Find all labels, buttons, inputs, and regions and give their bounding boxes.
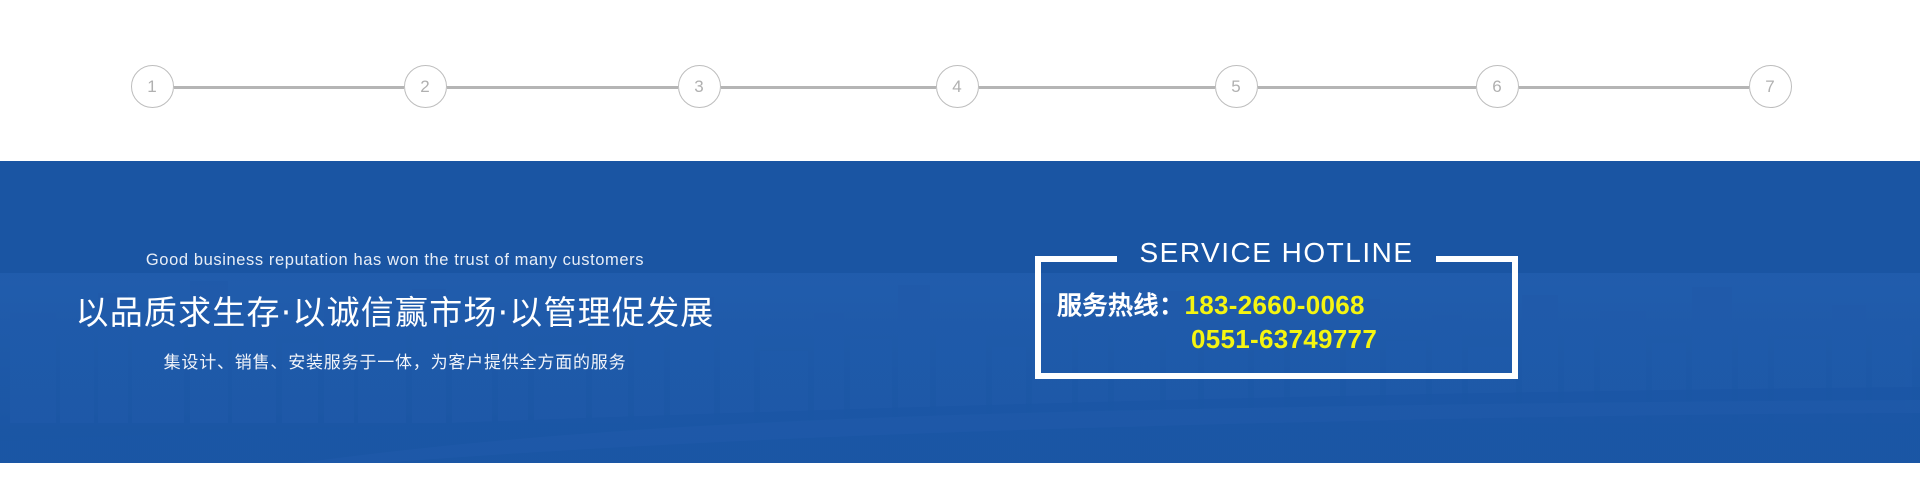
step-circle-6[interactable]: 6 — [1476, 65, 1519, 108]
slogan-block: Good business reputation has won the tru… — [0, 161, 1000, 463]
footer-white-strip — [0, 463, 1920, 500]
step-progress-bar: 1234567 — [0, 65, 1920, 109]
hotline-number-mobile[interactable]: 183-2660-0068 — [1185, 290, 1365, 321]
slogan-chinese-main: 以品质求生存·以诚信赢市场·以管理促发展 — [76, 286, 715, 334]
step-circle-1[interactable]: 1 — [131, 65, 174, 108]
step-circle-5[interactable]: 5 — [1215, 65, 1258, 108]
step-connector-line-1 — [174, 86, 404, 89]
stepper-band: 1234567 — [0, 0, 1920, 161]
frame-border-bottom — [1035, 373, 1518, 379]
step-connector-line-2 — [447, 86, 678, 89]
step-connector-line-3 — [721, 86, 936, 89]
step-circle-7[interactable]: 7 — [1749, 65, 1792, 108]
step-circle-3[interactable]: 3 — [678, 65, 721, 108]
page-root: 1234567 — [0, 0, 1920, 500]
step-circle-4[interactable]: 4 — [936, 65, 979, 108]
promo-banner: Good business reputation has won the tru… — [0, 161, 1920, 463]
step-connector-line-4 — [979, 86, 1215, 89]
step-circle-2[interactable]: 2 — [404, 65, 447, 108]
hotline-number-list: 服务热线： 183-2660-0068 0551-63749777 — [1035, 286, 1518, 355]
hotline-label: 服务热线： — [1057, 286, 1185, 322]
step-connector-line-6 — [1519, 86, 1749, 89]
hotline-row-secondary: 0551-63749777 — [1057, 324, 1518, 355]
service-hotline-box: SERVICE HOTLINE 服务热线： 183-2660-0068 0551… — [1035, 256, 1518, 379]
service-hotline-title: SERVICE HOTLINE — [1035, 237, 1518, 269]
hotline-number-landline[interactable]: 0551-63749777 — [1191, 324, 1377, 355]
step-connector-line-5 — [1258, 86, 1476, 89]
slogan-english: Good business reputation has won the tru… — [146, 251, 644, 270]
hotline-row-primary: 服务热线： 183-2660-0068 — [1057, 286, 1518, 322]
slogan-chinese-sub: 集设计、销售、安装服务于一体，为客户提供全方面的服务 — [164, 348, 627, 373]
